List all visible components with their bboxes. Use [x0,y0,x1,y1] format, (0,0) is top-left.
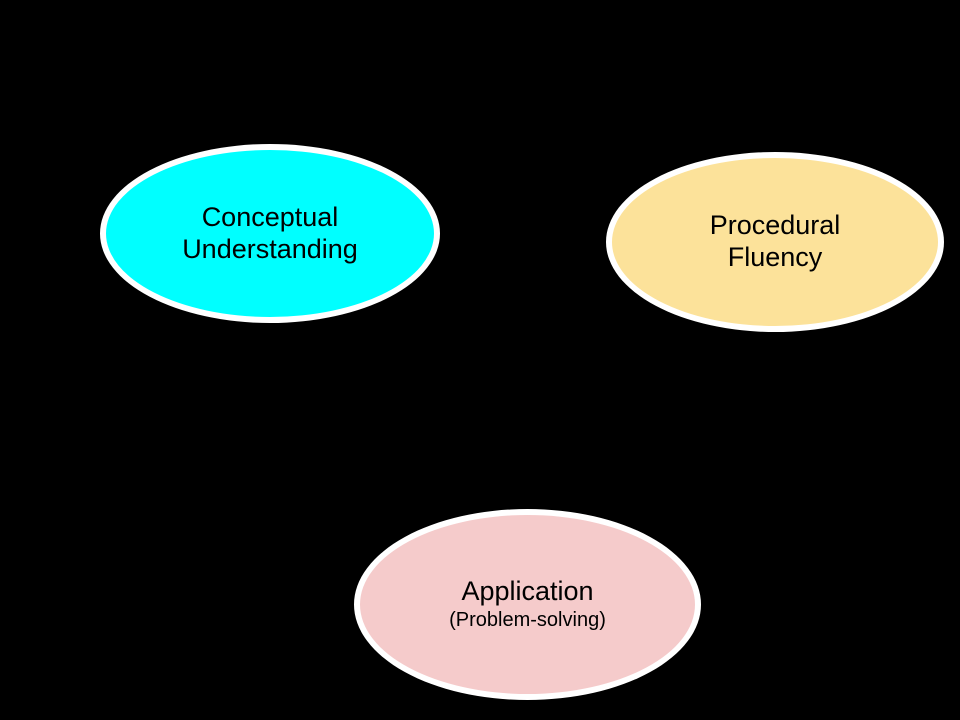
node-procedural-fluency[interactable]: Procedural Fluency [606,152,944,332]
node-conceptual-understanding-line1: Conceptual [202,202,339,234]
node-conceptual-understanding[interactable]: Conceptual Understanding [100,144,440,323]
node-procedural-fluency-line1: Procedural [710,210,841,242]
node-application[interactable]: Application (Problem-solving) [354,509,701,700]
node-procedural-fluency-line2: Fluency [728,242,823,274]
node-application-line2: (Problem-solving) [449,609,606,633]
node-conceptual-understanding-line2: Understanding [182,234,358,266]
node-application-line1: Application [461,576,593,608]
diagram-canvas: Conceptual Understanding Procedural Flue… [0,0,960,720]
